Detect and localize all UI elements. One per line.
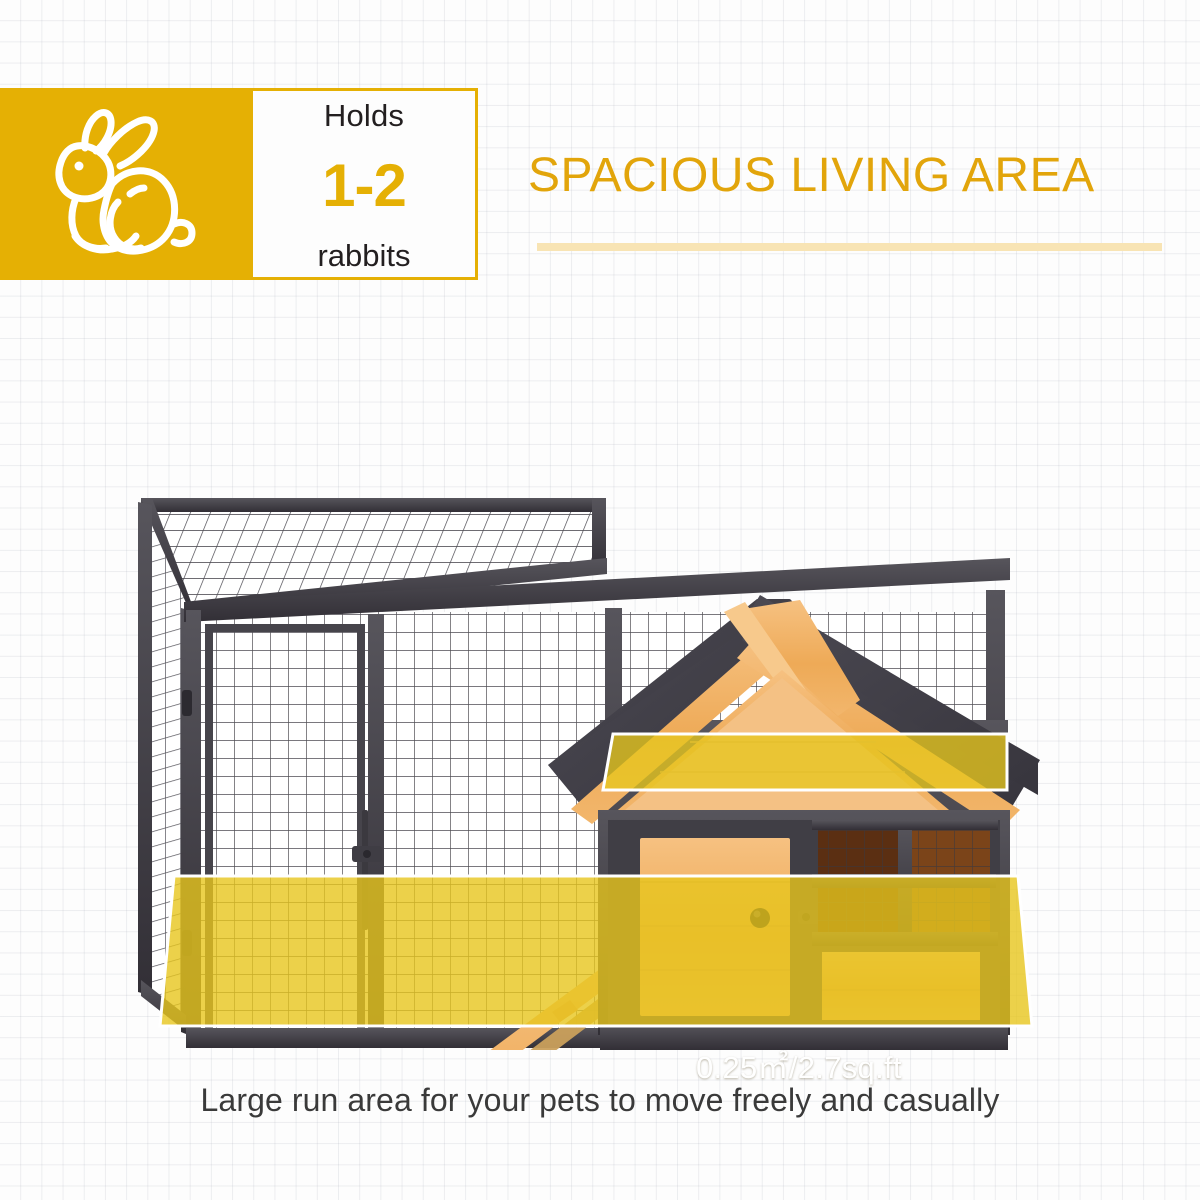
- page-title: SPACIOUS LIVING AREA: [528, 148, 1095, 203]
- capacity-unit-label: rabbits: [317, 240, 410, 271]
- upper-area-label: 0.25㎡/2.7sq.ft: [696, 1042, 902, 1087]
- banner-yellow-block: [0, 88, 250, 280]
- capacity-banner: Holds 1-2 rabbits: [0, 88, 478, 280]
- rabbit-icon: [52, 106, 202, 264]
- upper-area-overlay: [595, 728, 1020, 808]
- capacity-value: 1-2: [322, 157, 406, 214]
- title-underline-rule: [537, 243, 1162, 251]
- lower-area-overlay: [150, 868, 1040, 1048]
- capacity-panel: Holds 1-2 rabbits: [250, 88, 478, 280]
- caption-text: Large run area for your pets to move fre…: [0, 1082, 1200, 1119]
- capacity-prefix-label: Holds: [324, 100, 404, 131]
- infographic-page: Holds 1-2 rabbits SPACIOUS LIVING AREA: [0, 0, 1200, 1200]
- product-image: 0.25㎡/2.7sq.ft 0.55㎡/6sq.ft: [0, 290, 1200, 1050]
